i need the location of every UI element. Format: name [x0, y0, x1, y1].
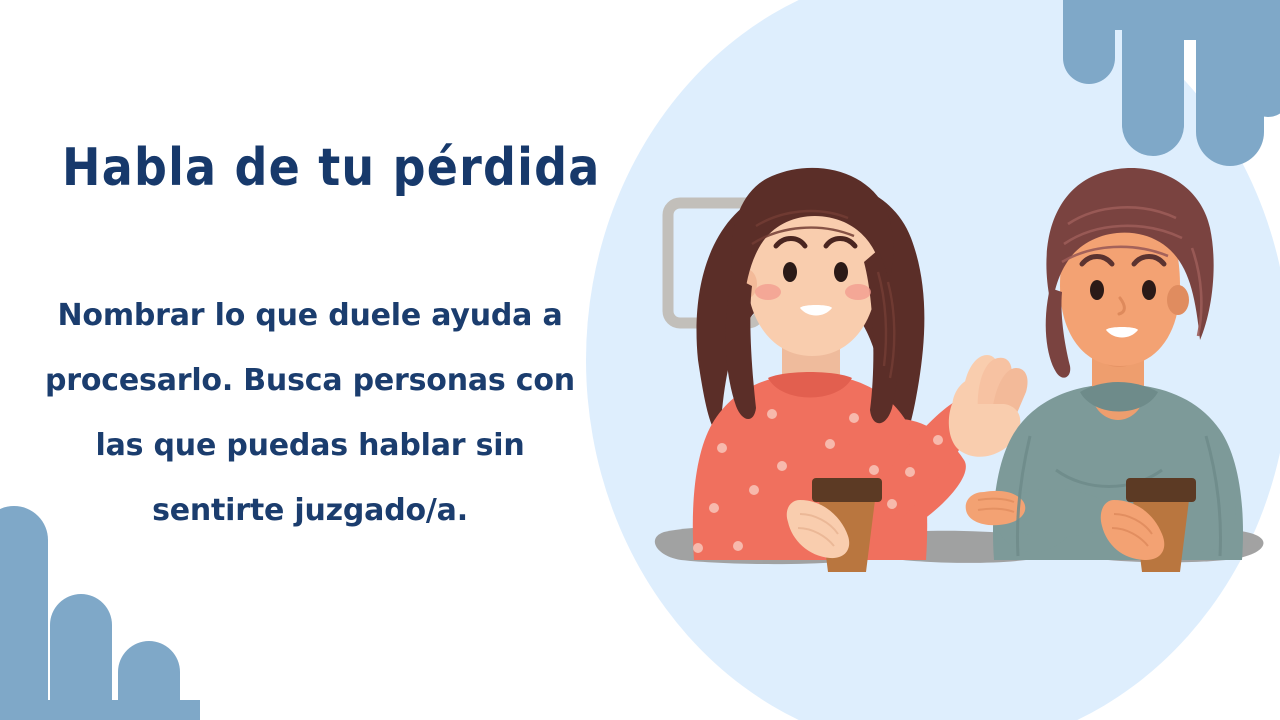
- woman-blush-right: [845, 284, 871, 300]
- woman-eye-right: [834, 262, 848, 282]
- person-eye-right: [1142, 280, 1156, 300]
- person-eye-left: [1090, 280, 1104, 300]
- person-ear: [1167, 285, 1189, 315]
- woman-blush-left: [755, 284, 781, 300]
- slide-canvas: Habla de tu pérdida Nombrar lo que duele…: [0, 0, 1280, 720]
- illustration-two-people-talking: [586, 0, 1280, 720]
- woman-eye-left: [783, 262, 797, 282]
